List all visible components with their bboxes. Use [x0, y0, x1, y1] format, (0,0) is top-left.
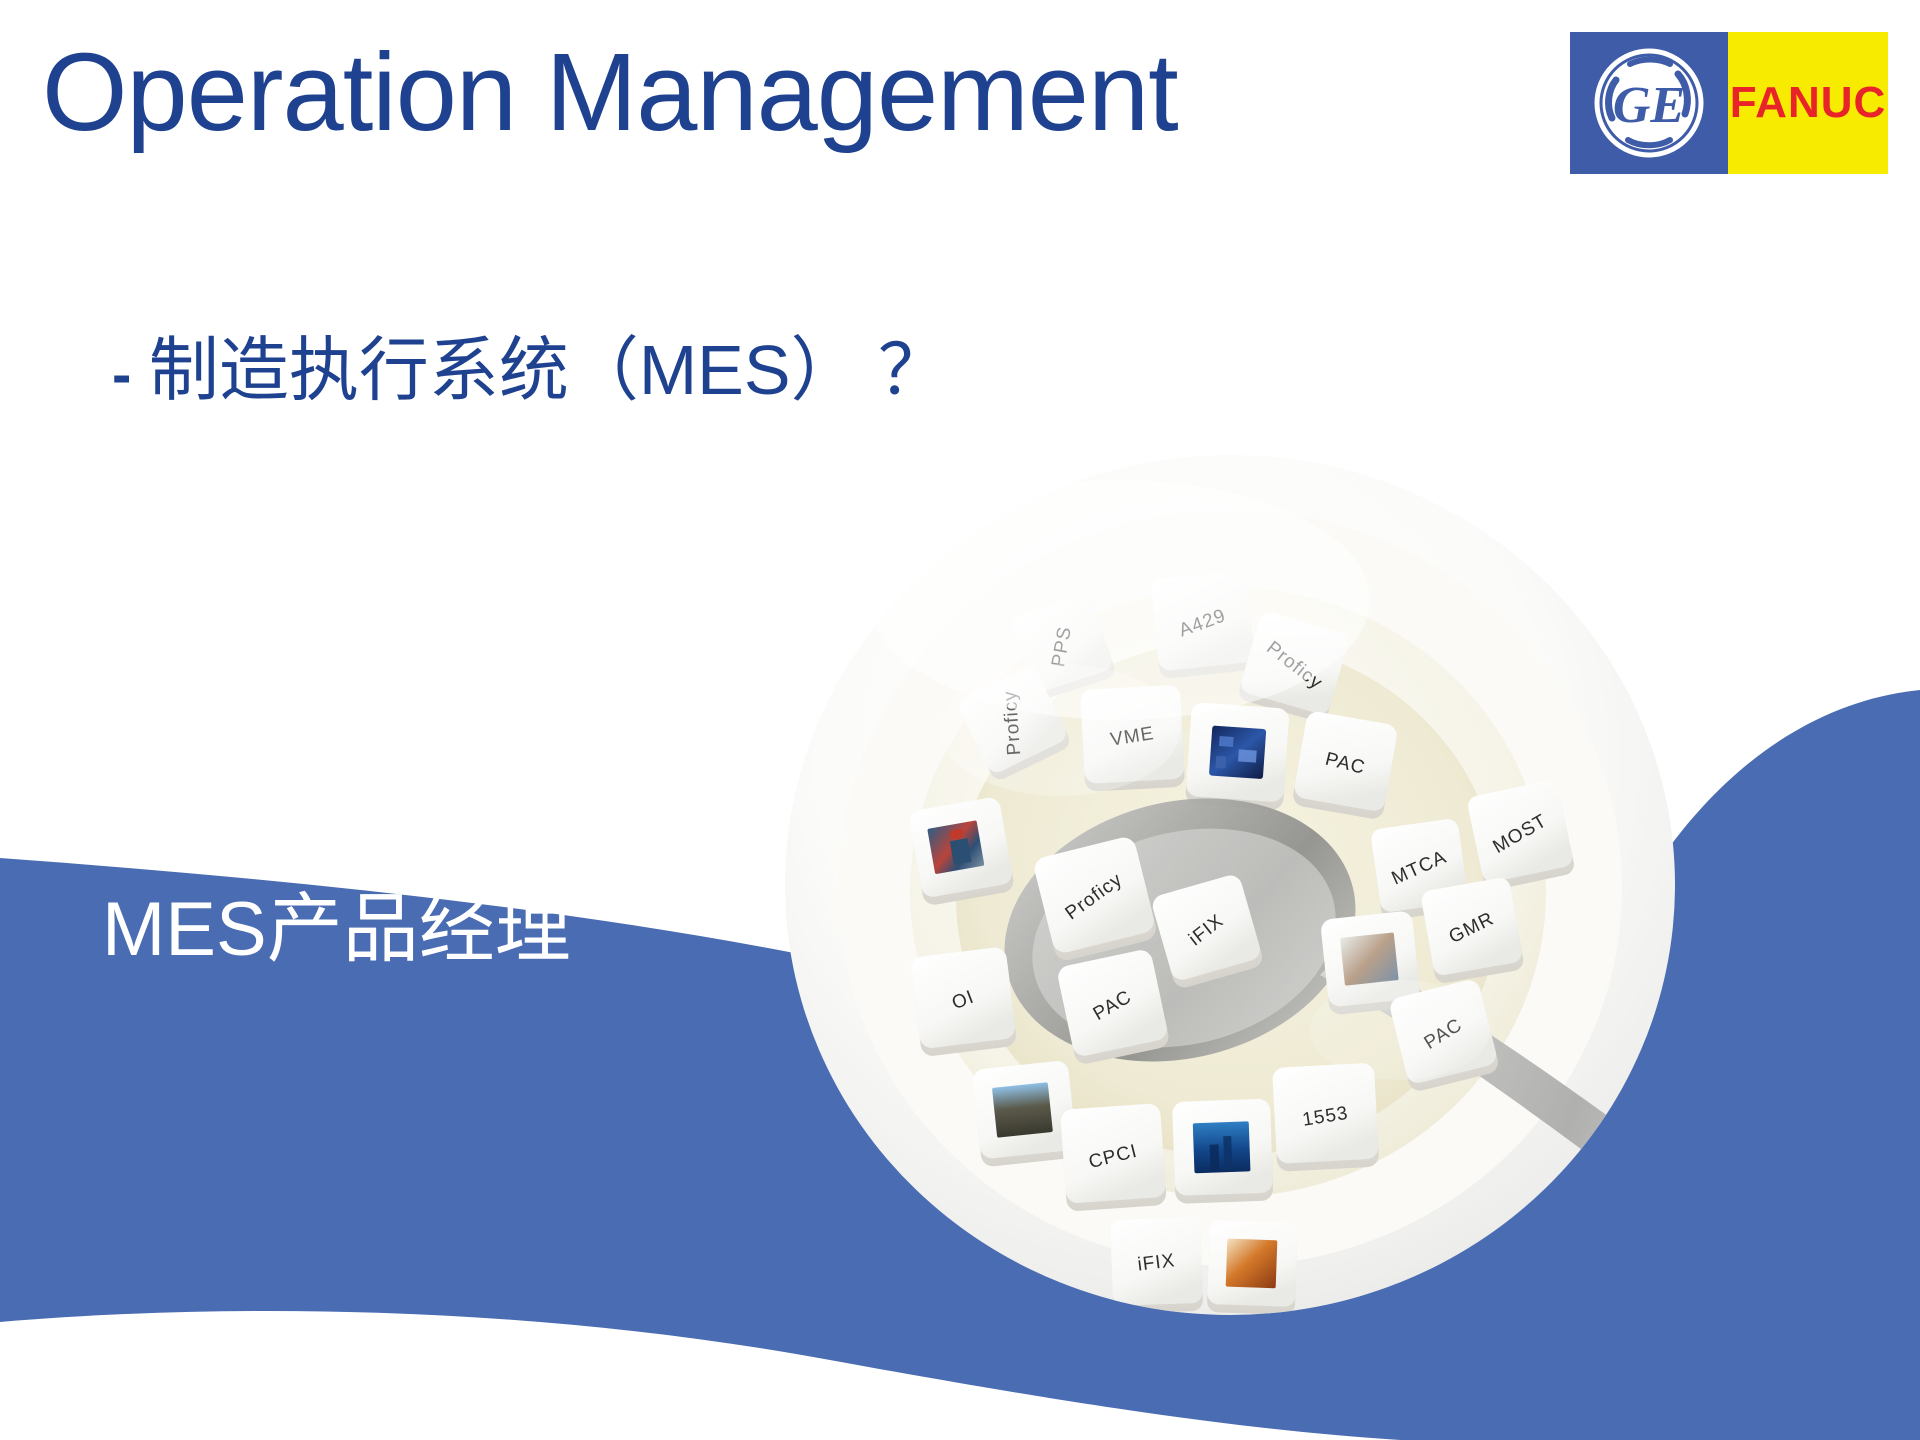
presenter-role-acronym: MES: [102, 887, 267, 972]
bowl-gloss: [870, 480, 1370, 720]
svg-text:GE: GE: [1613, 77, 1685, 134]
ge-logo-block: GE: [1570, 32, 1728, 174]
keycap-image-circuit-board: [1185, 702, 1290, 811]
keycap-image-turbine: [972, 1060, 1078, 1167]
presenter-name: 赵榕: [102, 780, 802, 880]
presentation-slide: PPS A429 Proficy Profic: [0, 0, 1920, 1440]
keycap-pac-upper: PAC: [1291, 710, 1398, 821]
subtitle-acronym: MES: [639, 331, 791, 409]
keycap-image-technician: [908, 796, 1015, 907]
ge-fanuc-logo: GE FANUC: [1570, 32, 1888, 174]
subtitle-dash: -: [112, 342, 131, 407]
subtitle-cn-after: ）: [791, 333, 861, 410]
slide-title: Operation Management: [42, 38, 1178, 148]
bowl-of-keycaps-photo: PPS A429 Proficy Profic: [760, 430, 1920, 1440]
fanuc-wordmark: FANUC: [1730, 78, 1887, 128]
presenter-role: MES产品经理: [102, 880, 802, 980]
presenter-role-cn: 产品经理: [267, 888, 571, 972]
keycap-image-city: [1172, 1099, 1274, 1204]
keycap-gmr: GMR: [1420, 876, 1525, 984]
keycap-oi: OI: [910, 946, 1017, 1057]
fanuc-logo-block: FANUC: [1728, 32, 1888, 174]
keycap-image-flame: [1207, 1220, 1298, 1315]
keycap-ifix-bottom: iFIX: [1110, 1217, 1203, 1314]
slide-subtitle: - 制造执行系统（MES） ？: [112, 330, 948, 413]
keycap-most: MOST: [1466, 779, 1576, 892]
ge-monogram-icon: GE: [1586, 40, 1712, 166]
keycap-1553: 1553: [1272, 1063, 1379, 1172]
milk-highlight-2: [1310, 980, 1490, 1080]
keycap-cpci: CPCI: [1060, 1103, 1167, 1212]
subtitle-cn-before: 制造执行系统（: [149, 333, 639, 410]
presenter-block: 赵榕 MES产品经理: [102, 780, 802, 981]
keycap-pac-center: PAC: [1056, 948, 1171, 1066]
subtitle-question-mark: ？: [878, 331, 948, 409]
